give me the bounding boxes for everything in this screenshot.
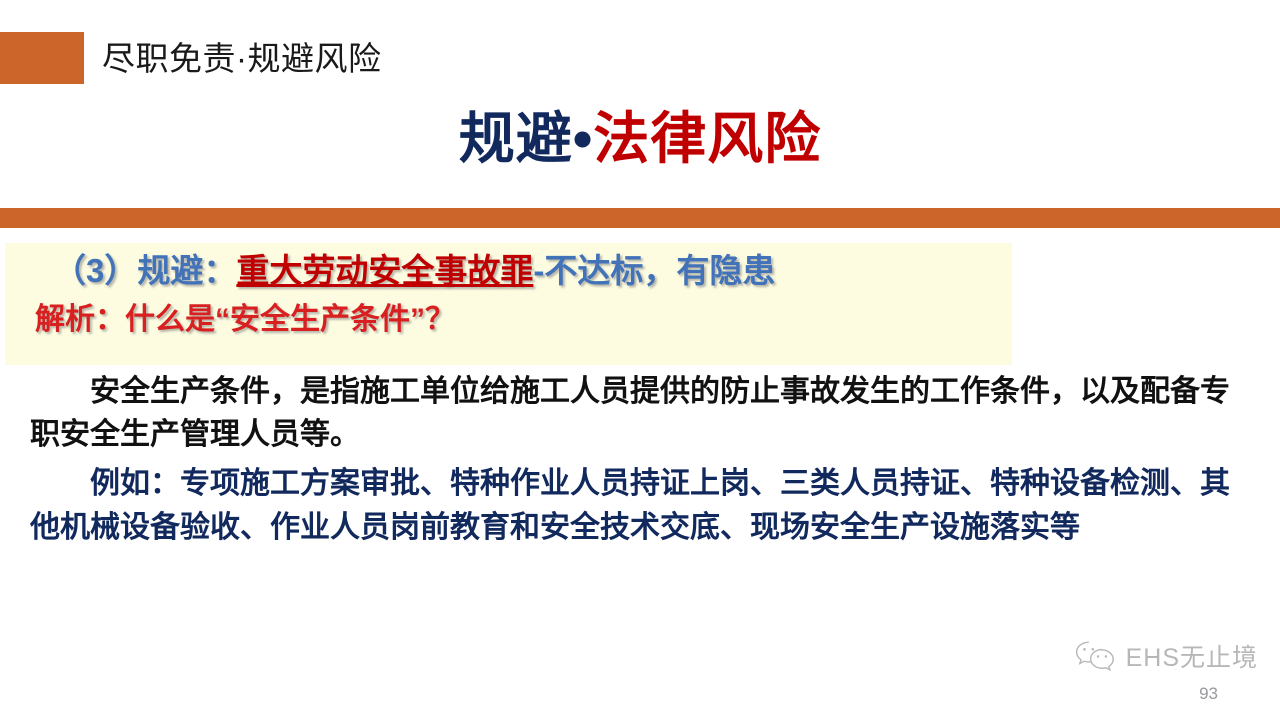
callout-line-1: （3）规避：重大劳动安全事故罪-不达标，有隐患: [53, 251, 775, 291]
page-title-separator: •: [573, 107, 594, 170]
wechat-icon: [1074, 639, 1116, 673]
callout-highlight-box: （3）规避：重大劳动安全事故罪-不达标，有隐患 解析：什么是“安全生产条件”？: [5, 243, 1012, 365]
header-title: 尽职免责·规避风险: [102, 42, 382, 75]
body-paragraph-2: 例如：专项施工方案审批、特种作业人员持证上岗、三类人员持证、特种设备检测、其他机…: [30, 462, 1250, 548]
callout-red-underlined-term: 重大劳动安全事故罪: [236, 252, 533, 289]
header-accent-swatch: [0, 32, 84, 84]
body-paragraph-1: 安全生产条件，是指施工单位给施工人员提供的防止事故发生的工作条件，以及配备专职安…: [30, 370, 1250, 456]
page-title-part2: 法律风险: [593, 107, 821, 170]
orange-divider-bar: [0, 208, 1280, 228]
body-content: 安全生产条件，是指施工单位给施工人员提供的防止事故发生的工作条件，以及配备专职安…: [30, 370, 1250, 549]
callout-line-2: 解析：什么是“安全生产条件”？: [35, 302, 455, 338]
callout-blue-prefix: （3）规避：: [53, 252, 236, 289]
page-number: 93: [1199, 684, 1218, 704]
watermark-label: EHS无止境: [1126, 638, 1258, 674]
slide-header: 尽职免责·规避风险: [0, 32, 382, 84]
watermark: EHS无止境: [1074, 638, 1258, 674]
callout-blue-suffix: -不达标，有隐患: [533, 252, 775, 289]
page-title: 规避•法律风险: [0, 106, 1280, 172]
page-title-part1: 规避: [459, 107, 573, 170]
slide-canvas: 尽职免责·规避风险 规避•法律风险 （3）规避：重大劳动安全事故罪-不达标，有隐…: [0, 0, 1280, 720]
